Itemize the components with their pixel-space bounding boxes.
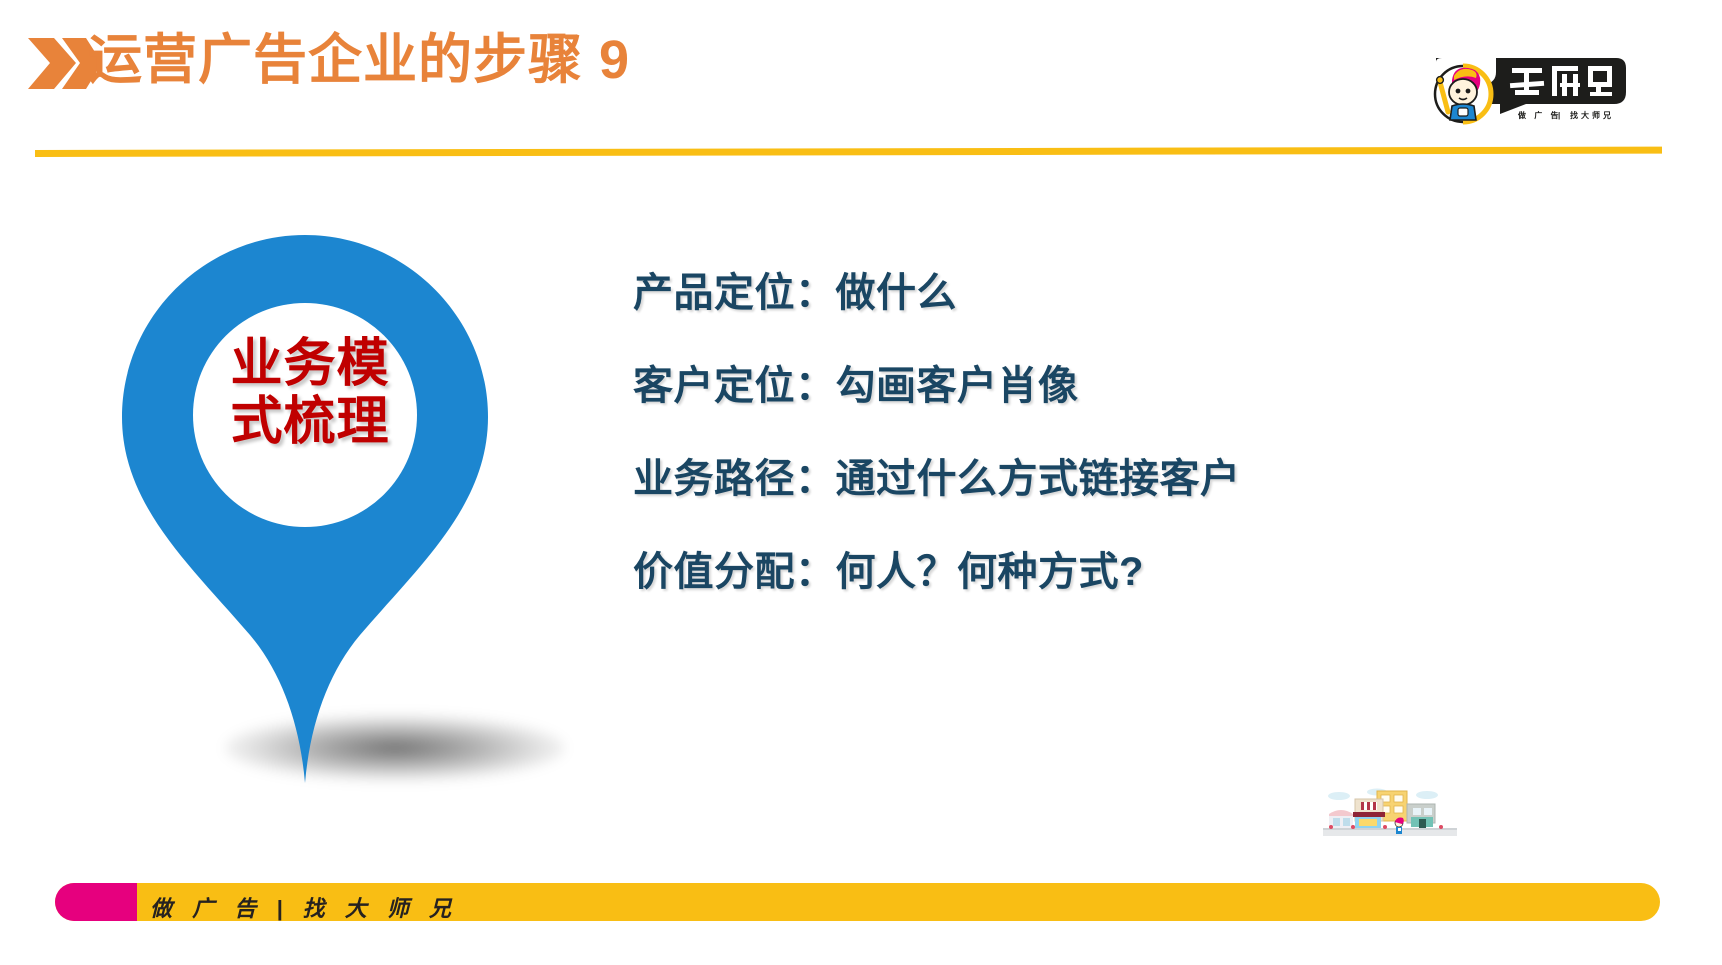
svg-text:|: |	[1558, 111, 1560, 120]
list-item: 价值分配：何人？何种方式?	[633, 547, 1663, 597]
pin-label-line-2: 式梳理	[130, 393, 490, 451]
brand-logo: 做 广 告 | 找大师兄	[1430, 52, 1630, 140]
list-item: 业务路径：通过什么方式链接客户	[633, 454, 1663, 504]
bullet-list: 产品定位：做什么 客户定位：勾画客户肖像 业务路径：通过什么方式链接客户 价值分…	[633, 268, 1663, 640]
map-pin-graphic: 业务模 式梳理	[100, 205, 520, 805]
map-pin-icon	[100, 205, 520, 805]
svg-text:找大师兄: 找大师兄	[1570, 110, 1614, 120]
list-item: 产品定位：做什么	[633, 268, 1663, 318]
page-title: 运营广告企业的步骤 9	[88, 25, 630, 95]
pin-label-line-1: 业务模	[130, 335, 490, 393]
storefront-street-illustration-icon	[1315, 786, 1465, 838]
pin-label: 业务模 式梳理	[130, 335, 490, 451]
footer-bar: 做 广 告 | 找 大 师 兄	[55, 883, 1660, 921]
footer-accent-cap	[55, 883, 137, 921]
list-item: 客户定位：勾画客户肖像	[633, 361, 1663, 411]
footer-tagline: 做 广 告 | 找 大 师 兄	[150, 891, 458, 923]
svg-text:做 广 告: 做 广 告	[1517, 110, 1561, 120]
slide-canvas: 运营广告企业的步骤 9	[0, 0, 1722, 965]
